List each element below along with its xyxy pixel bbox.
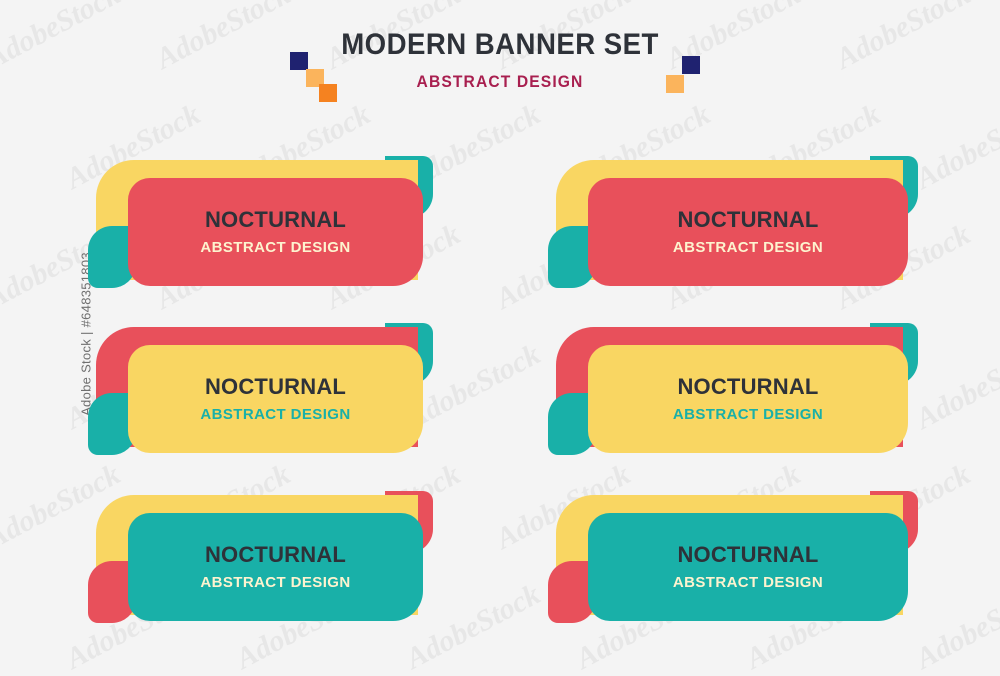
watermark-text: AdobeStock: [911, 338, 1000, 437]
decoration-squares-left: [290, 52, 360, 107]
square-navy: [290, 52, 308, 70]
banner-title: NOCTURNAL: [677, 544, 818, 566]
watermark-text: AdobeStock: [911, 98, 1000, 197]
banner-card[interactable]: NOCTURNALABSTRACT DESIGN: [548, 483, 918, 633]
banner-title: NOCTURNAL: [205, 209, 346, 231]
banner-title: NOCTURNAL: [205, 376, 346, 398]
square-orange-light: [666, 75, 684, 93]
banner-subtitle: ABSTRACT DESIGN: [200, 575, 350, 590]
banner-card[interactable]: NOCTURNALABSTRACT DESIGN: [88, 148, 433, 298]
banner-subtitle: ABSTRACT DESIGN: [200, 240, 350, 255]
page-header: MODERN BANNER SET ABSTRACT DESIGN: [0, 28, 1000, 92]
banner-subtitle: ABSTRACT DESIGN: [673, 407, 823, 422]
banner-front-card[interactable]: NOCTURNALABSTRACT DESIGN: [588, 513, 908, 621]
banner-card[interactable]: NOCTURNALABSTRACT DESIGN: [548, 315, 918, 465]
banner-subtitle: ABSTRACT DESIGN: [200, 407, 350, 422]
banner-front-card[interactable]: NOCTURNALABSTRACT DESIGN: [588, 345, 908, 453]
decoration-squares-right: [666, 56, 726, 106]
banner-title: NOCTURNAL: [677, 376, 818, 398]
banner-card[interactable]: NOCTURNALABSTRACT DESIGN: [88, 315, 433, 465]
banner-card[interactable]: NOCTURNALABSTRACT DESIGN: [88, 483, 433, 633]
watermark-text: AdobeStock: [911, 578, 1000, 676]
banner-title: NOCTURNAL: [677, 209, 818, 231]
page-title: MODERN BANNER SET: [40, 28, 960, 62]
banner-front-card[interactable]: NOCTURNALABSTRACT DESIGN: [128, 513, 423, 621]
banner-front-card[interactable]: NOCTURNALABSTRACT DESIGN: [128, 178, 423, 286]
square-orange-dark: [319, 84, 337, 102]
page-subtitle: ABSTRACT DESIGN: [40, 72, 960, 92]
banner-subtitle: ABSTRACT DESIGN: [673, 575, 823, 590]
banner-front-card[interactable]: NOCTURNALABSTRACT DESIGN: [588, 178, 908, 286]
square-navy: [682, 56, 700, 74]
banner-front-card[interactable]: NOCTURNALABSTRACT DESIGN: [128, 345, 423, 453]
banner-title: NOCTURNAL: [205, 544, 346, 566]
banner-subtitle: ABSTRACT DESIGN: [673, 240, 823, 255]
banner-card[interactable]: NOCTURNALABSTRACT DESIGN: [548, 148, 918, 298]
